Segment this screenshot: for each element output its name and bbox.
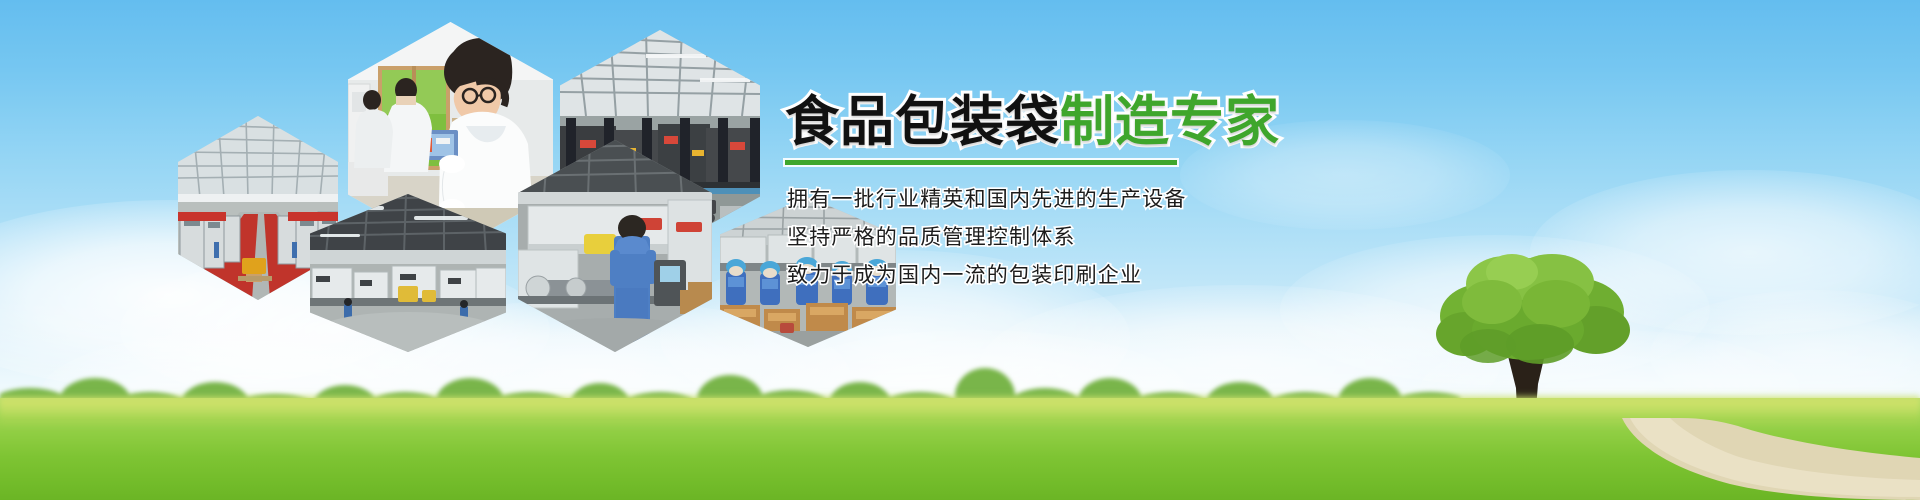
accent-divider <box>785 160 1177 165</box>
headline-part-black: 食品包装袋 <box>785 90 1060 153</box>
subtitle-line-3: 致力于成为国内一流的包装印刷企业 <box>787 256 1547 294</box>
hexagon-photo-cluster <box>160 12 800 352</box>
promo-banner: 食品包装袋制造专家 拥有一批行业精英和国内先进的生产设备 坚持严格的品质管理控制… <box>0 0 1920 500</box>
headline-part-green: 制造专家 <box>1060 90 1280 153</box>
page-title: 食品包装袋制造专家 <box>785 92 1785 152</box>
subtitle-list: 拥有一批行业精英和国内先进的生产设备 坚持严格的品质管理控制体系 致力于成为国内… <box>787 180 1547 294</box>
banner-text-block: 食品包装袋制造专家 拥有一批行业精英和国内先进的生产设备 坚持严格的品质管理控制… <box>785 92 1785 312</box>
grass-highlight <box>0 398 1920 428</box>
subtitle-line-1: 拥有一批行业精英和国内先进的生产设备 <box>787 180 1547 218</box>
subtitle-line-2: 坚持严格的品质管理控制体系 <box>787 218 1547 256</box>
